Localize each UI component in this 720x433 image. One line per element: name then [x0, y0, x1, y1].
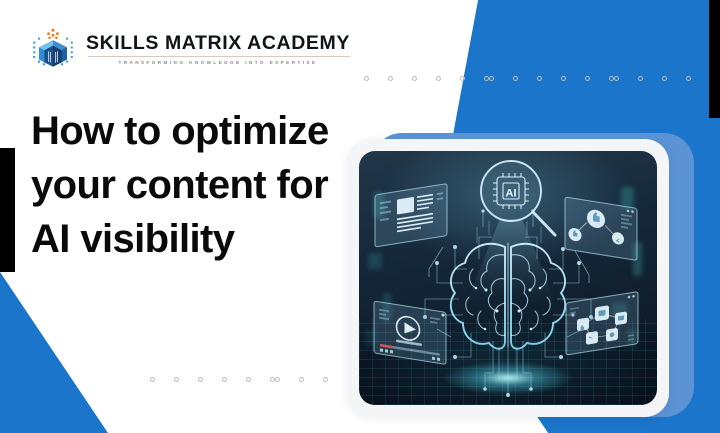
black-bar-right: [709, 0, 720, 118]
blue-triangle-bottom-left-2: [0, 272, 108, 433]
share-network-icon: [566, 292, 638, 355]
thumbs-up-icon: [565, 197, 637, 260]
dot-grid-top: [364, 76, 720, 95]
brand-name: SKILLS MATRIX ACADEMY: [86, 33, 350, 53]
brain-circuit-icon: AI: [359, 151, 657, 405]
slide-canvas: SKILLS MATRIX ACADEMY TRANSFORMING KNOWL…: [0, 0, 720, 433]
black-bar-left: [0, 148, 15, 272]
brand-text: SKILLS MATRIX ACADEMY TRANSFORMING KNOWL…: [86, 33, 350, 66]
page-title: How to optimize your content for AI visi…: [31, 104, 353, 266]
ai-chip-label: AI: [506, 188, 517, 200]
open-book-icon: [31, 27, 75, 71]
brand-logo: SKILLS MATRIX ACADEMY TRANSFORMING KNOWL…: [31, 27, 350, 71]
brand-tagline: TRANSFORMING KNOWLEDGE INTO EXPERTISE: [86, 60, 350, 65]
hero-image-frame: AI: [347, 139, 669, 417]
brand-divider: [88, 56, 350, 57]
play-button-icon: [374, 301, 446, 364]
circuit-vector-layer: AI: [359, 151, 657, 405]
blue-triangle-bottom-left: [0, 272, 108, 433]
document-icon: [375, 184, 447, 247]
